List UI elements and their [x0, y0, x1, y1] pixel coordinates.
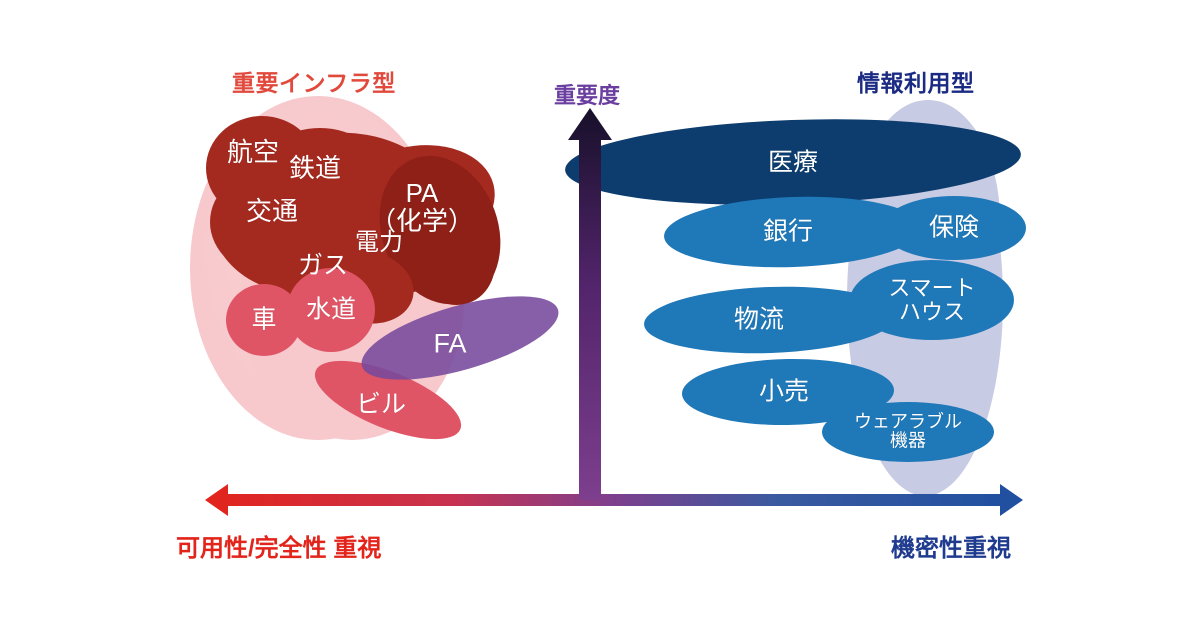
blob-wearable	[822, 402, 994, 462]
information-usage-blob-group	[564, 112, 1026, 462]
right-group-title: 情報利用型	[857, 64, 975, 98]
diagram-canvas: 重要インフラ型 情報利用型 重要度 可用性/完全性 重視 機密性重視 航空鉄道交…	[0, 0, 1200, 630]
blob-insurance	[882, 196, 1026, 260]
axis-right-end-label: 機密性重視	[891, 528, 1011, 563]
blob-waterworks	[287, 268, 375, 352]
horizontal-axis-arrow	[205, 484, 1023, 516]
axis-left-end-label: 可用性/完全性 重視	[176, 528, 381, 563]
vertical-axis-label: 重要度	[554, 78, 620, 110]
left-group-title: 重要インフラ型	[232, 64, 396, 98]
